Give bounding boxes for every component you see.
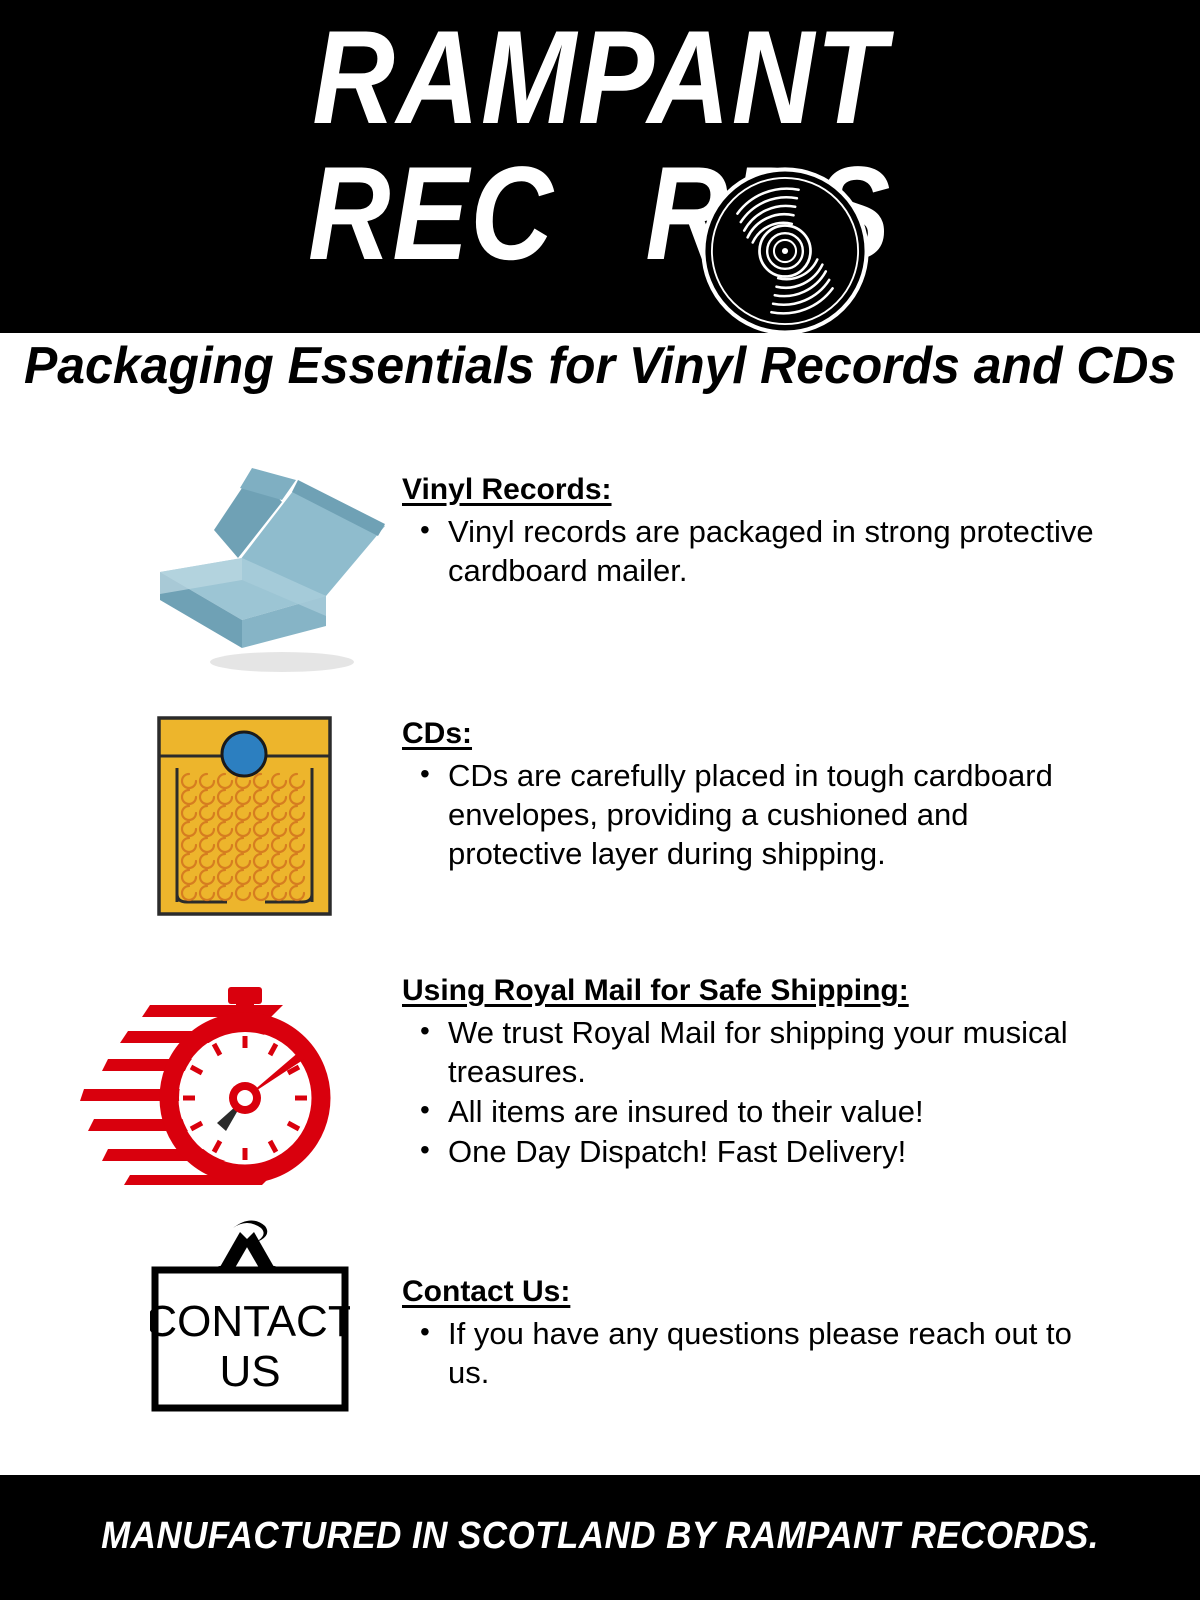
cardboard-mailer-box-icon xyxy=(130,430,390,684)
section-vinyl-heading: Vinyl Records: xyxy=(402,472,1102,508)
section-vinyl-bullets: Vinyl records are packaged in strong pro… xyxy=(402,512,1102,590)
vinyl-record-icon xyxy=(700,166,870,333)
page-subtitle: Packaging Essentials for Vinyl Records a… xyxy=(24,338,1176,395)
section-royal-mail-bullets: We trust Royal Mail for shipping your mu… xyxy=(402,1013,1102,1171)
section-contact-us-heading: Contact Us: xyxy=(402,1274,1102,1310)
list-item: All items are insured to their value! xyxy=(448,1092,1102,1131)
list-item: Vinyl records are packaged in strong pro… xyxy=(448,512,1102,590)
fast-stopwatch-icon xyxy=(78,965,348,1199)
section-royal-mail-text: Using Royal Mail for Safe Shipping: We t… xyxy=(402,973,1102,1172)
section-royal-mail: Using Royal Mail for Safe Shipping: We t… xyxy=(0,955,1200,1200)
list-item: We trust Royal Mail for shipping your mu… xyxy=(448,1013,1102,1091)
footer-text: MANUFACTURED IN SCOTLAND BY RAMPANT RECO… xyxy=(48,1515,1152,1558)
padded-envelope-icon xyxy=(157,716,332,920)
list-item: CDs are carefully placed in tough cardbo… xyxy=(448,756,1102,873)
brand-title-line2-before: REC xyxy=(308,140,555,288)
section-vinyl-records: Vinyl Records: Vinyl records are package… xyxy=(0,430,1200,685)
list-item: One Day Dispatch! Fast Delivery! xyxy=(448,1132,1102,1171)
svg-text:US: US xyxy=(219,1347,280,1396)
section-contact-us-bullets: If you have any questions please reach o… xyxy=(402,1314,1102,1392)
section-cds: CDs: CDs are carefully placed in tough c… xyxy=(0,700,1200,935)
svg-text:CONTACT: CONTACT xyxy=(150,1297,350,1346)
section-cds-text: CDs: CDs are carefully placed in tough c… xyxy=(402,716,1102,874)
section-contact-us-text: Contact Us: If you have any questions pl… xyxy=(402,1274,1102,1393)
header-banner: RAMPANT RECORDS xyxy=(0,0,1200,333)
footer-banner: MANUFACTURED IN SCOTLAND BY RAMPANT RECO… xyxy=(0,1475,1200,1600)
brand-title-line2: RECORDS xyxy=(84,148,1116,281)
contact-us-sign-icon: CONTACT US xyxy=(150,1218,350,1417)
list-item: If you have any questions please reach o… xyxy=(448,1314,1102,1392)
section-vinyl-text: Vinyl Records: Vinyl records are package… xyxy=(402,472,1102,591)
section-royal-mail-heading: Using Royal Mail for Safe Shipping: xyxy=(402,973,1102,1009)
section-cds-heading: CDs: xyxy=(402,716,1102,752)
section-cds-bullets: CDs are carefully placed in tough cardbo… xyxy=(402,756,1102,873)
section-contact-us: CONTACT US Contact Us: If you have any q… xyxy=(0,1218,1200,1413)
brand-title-line1: RAMPANT xyxy=(84,12,1116,145)
